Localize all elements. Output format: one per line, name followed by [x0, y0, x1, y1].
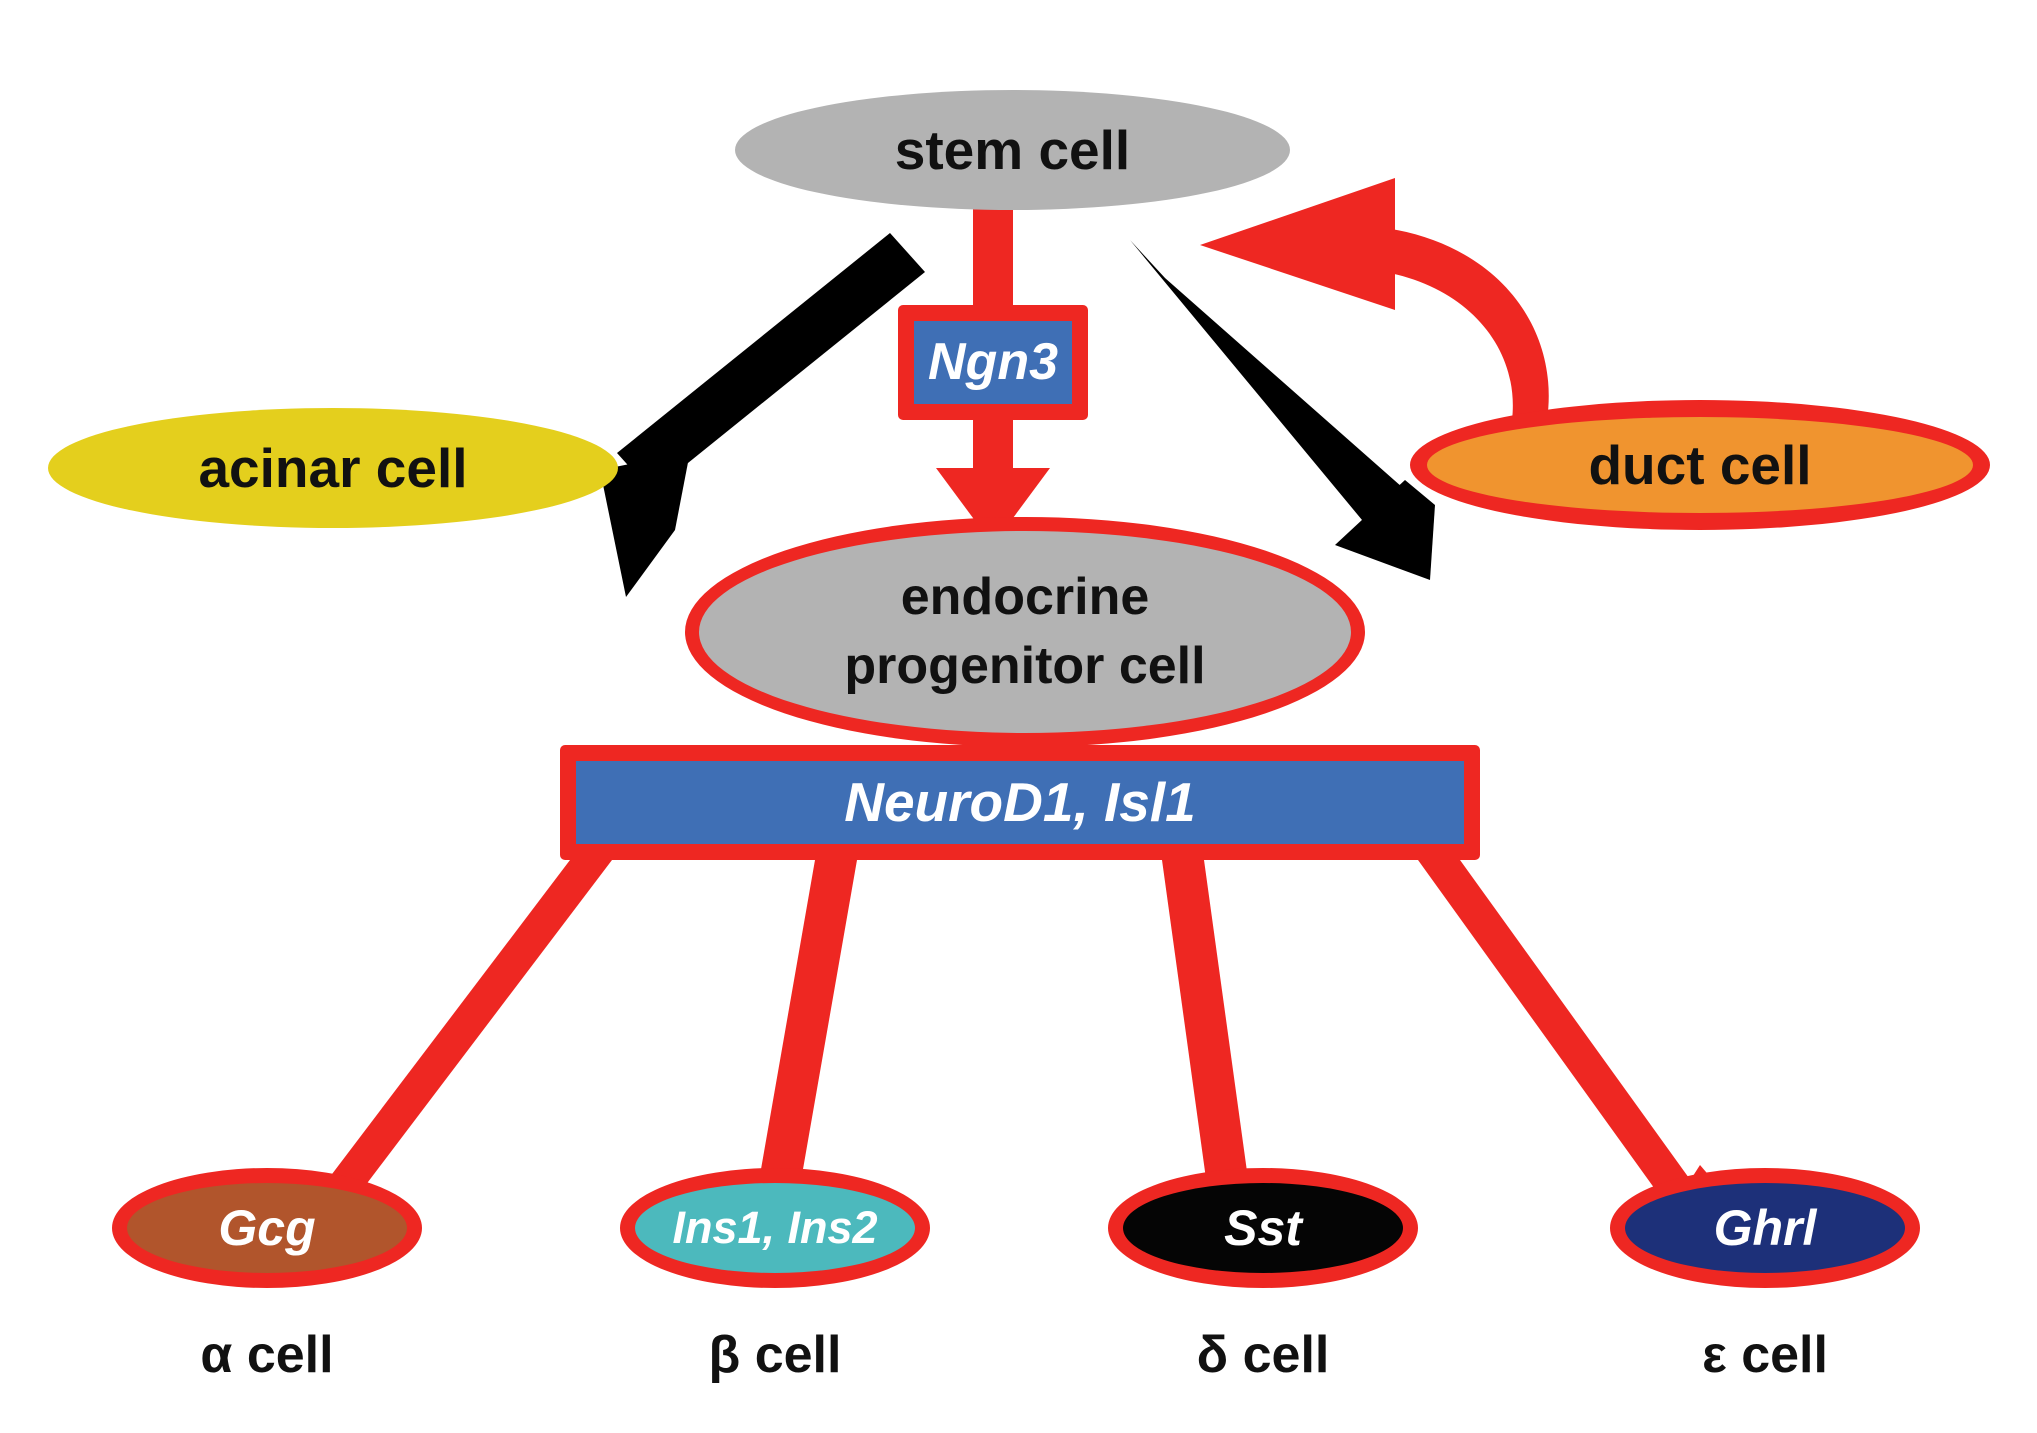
epsilon-cell-label: ε cell [1610, 1325, 1920, 1385]
stem-cell-label: stem cell [895, 118, 1130, 183]
ins1-ins2-label: Ins1, Ins2 [672, 1201, 877, 1254]
endocrine-progenitor-line2: progenitor cell [844, 636, 1205, 697]
gene-box-ngn3[interactable]: Ngn3 [898, 305, 1088, 420]
ngn3-label: Ngn3 [928, 332, 1058, 393]
node-delta-cell-marker[interactable]: Sst [1108, 1168, 1418, 1288]
acinar-cell-label: acinar cell [198, 436, 467, 501]
ghrl-label: Ghrl [1714, 1199, 1817, 1258]
duct-cell-label: duct cell [1588, 433, 1811, 498]
node-stem-cell[interactable]: stem cell [735, 90, 1290, 210]
node-beta-cell-marker[interactable]: Ins1, Ins2 [620, 1168, 930, 1288]
neurod1-isl1-label: NeuroD1, Isl1 [844, 770, 1196, 835]
node-alpha-cell-marker[interactable]: Gcg [112, 1168, 422, 1288]
node-epsilon-cell-marker[interactable]: Ghrl [1610, 1168, 1920, 1288]
gene-box-neurod1-isl1[interactable]: NeuroD1, Isl1 [560, 745, 1480, 860]
delta-cell-label: δ cell [1108, 1325, 1418, 1385]
edge-duct-to-stem-curved [1200, 178, 1549, 420]
edge-stem-to-ngn3 [973, 195, 1013, 320]
alpha-cell-label: α cell [112, 1325, 422, 1385]
edge-ngn3-stem-shaft [973, 410, 1013, 480]
gcg-label: Gcg [218, 1199, 315, 1258]
beta-cell-label: β cell [620, 1325, 930, 1385]
sst-label: Sst [1224, 1199, 1302, 1258]
diagram-canvas: stem cell acinar cell duct cell endocrin… [0, 0, 2037, 1433]
endocrine-progenitor-line1: endocrine [901, 567, 1150, 628]
node-duct-cell[interactable]: duct cell [1410, 400, 1990, 530]
node-endocrine-progenitor-cell[interactable]: endocrine progenitor cell [685, 517, 1365, 747]
node-acinar-cell[interactable]: acinar cell [48, 408, 618, 528]
